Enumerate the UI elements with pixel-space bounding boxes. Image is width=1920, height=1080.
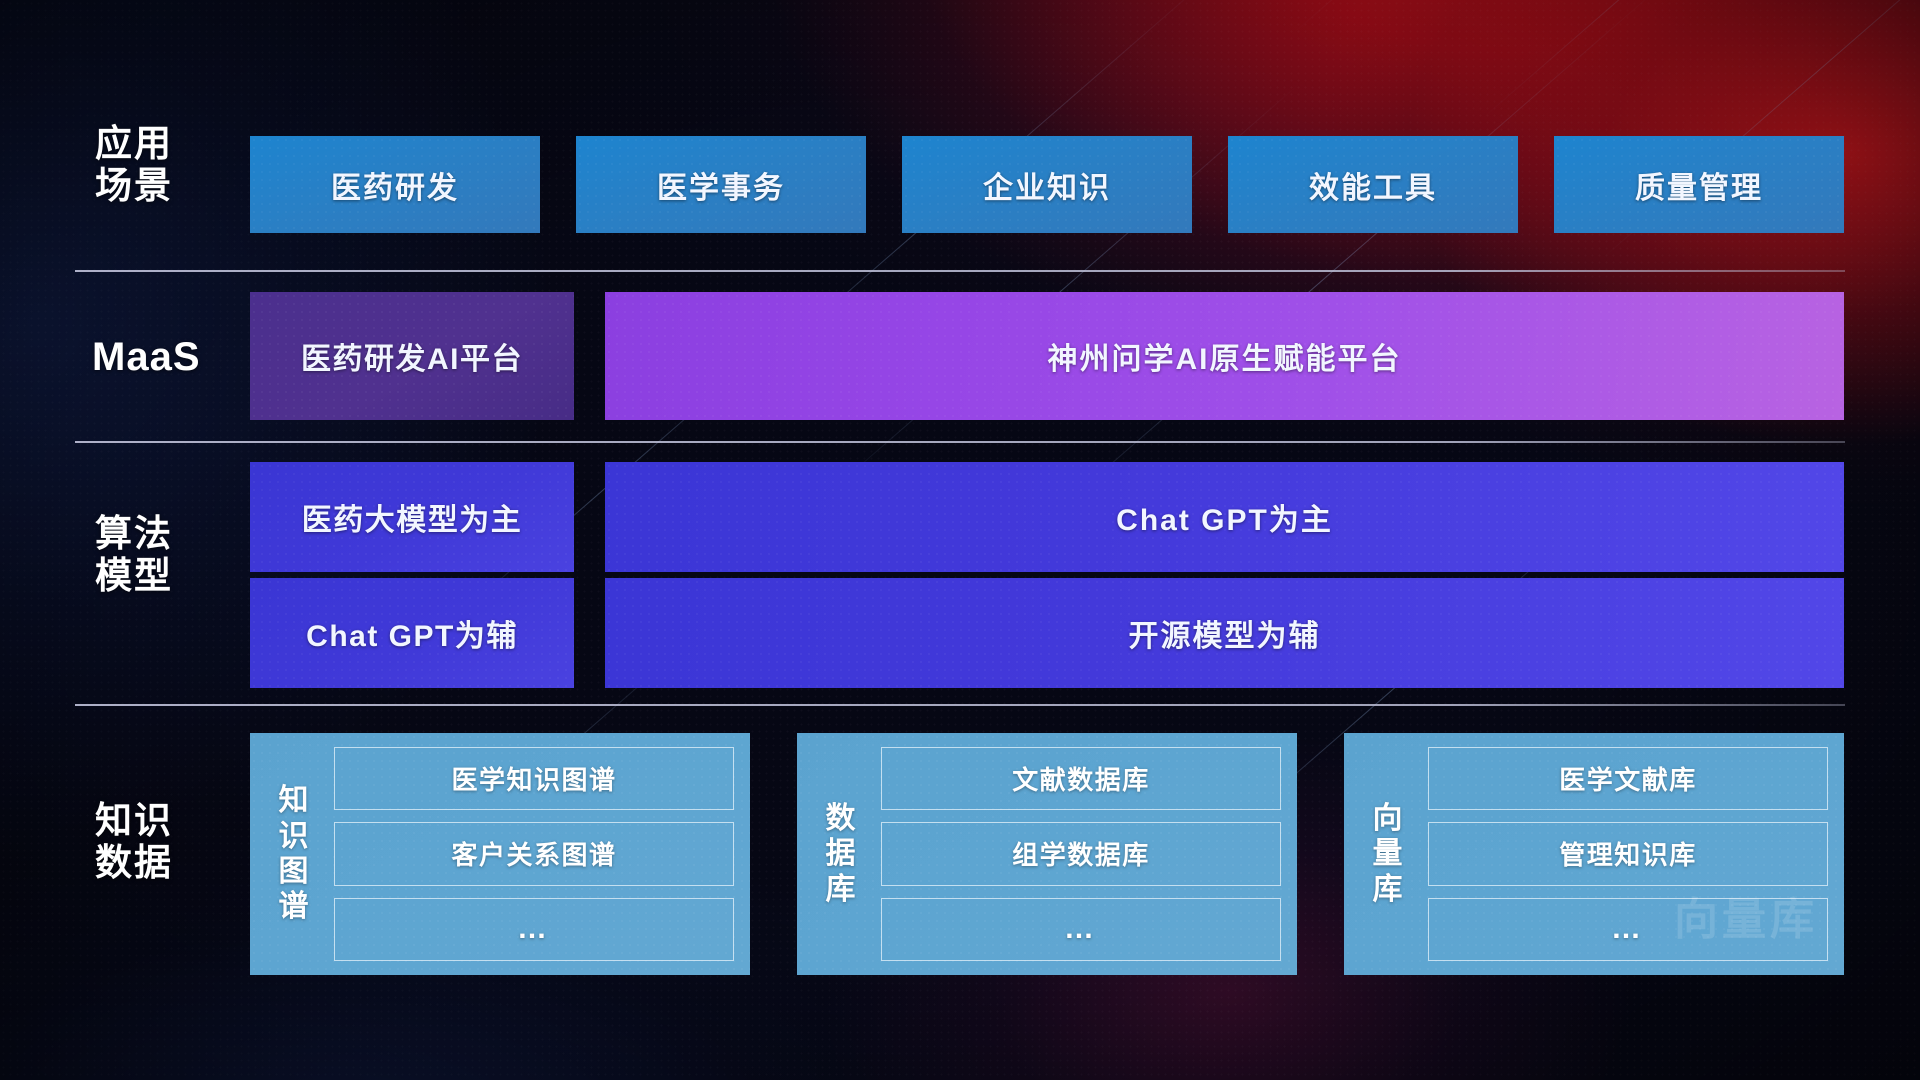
maas-box-shenzhou-wenxue-platform-label: 神州问学AI原生赋能平台: [1048, 334, 1402, 378]
knowledge-card-knowledge-graph[interactable]: 知识图谱 医学知识图谱 客户关系图谱 …: [250, 733, 750, 975]
app-box-medical-affairs-label: 医学事务: [657, 163, 785, 207]
app-box-medical-affairs[interactable]: 医学事务: [576, 136, 866, 233]
knowledge-item-medical-literature-library[interactable]: 医学文献库: [1428, 747, 1828, 810]
algo-box-chatgpt-secondary[interactable]: Chat GPT为辅: [250, 578, 574, 688]
knowledge-card-knowledge-graph-items: 医学知识图谱 客户关系图谱 …: [334, 747, 734, 961]
divider-after-maas-row: [75, 441, 1845, 443]
row-label-application-scenarios: 应用 场景: [95, 123, 173, 207]
algo-box-pharma-llm-primary-label: 医药大模型为主: [302, 495, 523, 539]
app-box-enterprise-knowledge-label: 企业知识: [983, 163, 1111, 207]
maas-box-shenzhou-wenxue-platform[interactable]: 神州问学AI原生赋能平台: [605, 292, 1844, 420]
algo-box-chatgpt-primary-label: Chat GPT为主: [1116, 495, 1333, 539]
algo-box-open-source-secondary[interactable]: 开源模型为辅: [605, 578, 1844, 688]
knowledge-card-database-title: 数据库: [815, 801, 867, 907]
algo-box-open-source-secondary-label: 开源模型为辅: [1129, 611, 1321, 655]
knowledge-card-database-items: 文献数据库 组学数据库 …: [881, 747, 1281, 961]
knowledge-item-more-ellipsis[interactable]: …: [881, 898, 1281, 961]
knowledge-card-vector-database[interactable]: 向量库 医学文献库 管理知识库 … 向量库: [1344, 733, 1844, 975]
row-label-knowledge-data: 知识 数据: [95, 800, 173, 884]
knowledge-item-customer-relation-graph[interactable]: 客户关系图谱: [334, 822, 734, 885]
algo-box-chatgpt-secondary-label: Chat GPT为辅: [306, 611, 518, 655]
app-box-enterprise-knowledge[interactable]: 企业知识: [902, 136, 1192, 233]
maas-box-pharma-ai-platform-label: 医药研发AI平台: [301, 334, 523, 378]
knowledge-item-literature-database[interactable]: 文献数据库: [881, 747, 1281, 810]
app-box-efficiency-tools-label: 效能工具: [1309, 163, 1437, 207]
divider-after-application-row: [75, 270, 1845, 272]
knowledge-item-more-ellipsis[interactable]: …: [1428, 898, 1828, 961]
app-box-efficiency-tools[interactable]: 效能工具: [1228, 136, 1518, 233]
algo-box-chatgpt-primary[interactable]: Chat GPT为主: [605, 462, 1844, 572]
algo-box-pharma-llm-primary[interactable]: 医药大模型为主: [250, 462, 574, 572]
knowledge-card-database[interactable]: 数据库 文献数据库 组学数据库 …: [797, 733, 1297, 975]
knowledge-item-omics-database[interactable]: 组学数据库: [881, 822, 1281, 885]
knowledge-item-more-ellipsis[interactable]: …: [334, 898, 734, 961]
knowledge-item-management-knowledge-base[interactable]: 管理知识库: [1428, 822, 1828, 885]
app-box-quality-management[interactable]: 质量管理: [1554, 136, 1844, 233]
app-box-pharma-rd[interactable]: 医药研发: [250, 136, 540, 233]
knowledge-card-vector-database-title: 向量库: [1362, 801, 1414, 907]
knowledge-card-knowledge-graph-title: 知识图谱: [268, 783, 320, 925]
maas-box-pharma-ai-platform[interactable]: 医药研发AI平台: [250, 292, 574, 420]
knowledge-item-medical-knowledge-graph[interactable]: 医学知识图谱: [334, 747, 734, 810]
row-label-algorithm-model: 算法 模型: [95, 513, 173, 597]
app-box-pharma-rd-label: 医药研发: [331, 163, 459, 207]
app-box-quality-management-label: 质量管理: [1635, 163, 1763, 207]
row-label-maas: MaaS: [92, 335, 201, 381]
knowledge-card-vector-database-items: 医学文献库 管理知识库 …: [1428, 747, 1828, 961]
diagram-canvas: 应用 场景 医药研发 医学事务 企业知识 效能工具 质量管理 MaaS 医药研发…: [0, 0, 1920, 1080]
divider-after-algorithm-row: [75, 704, 1845, 706]
